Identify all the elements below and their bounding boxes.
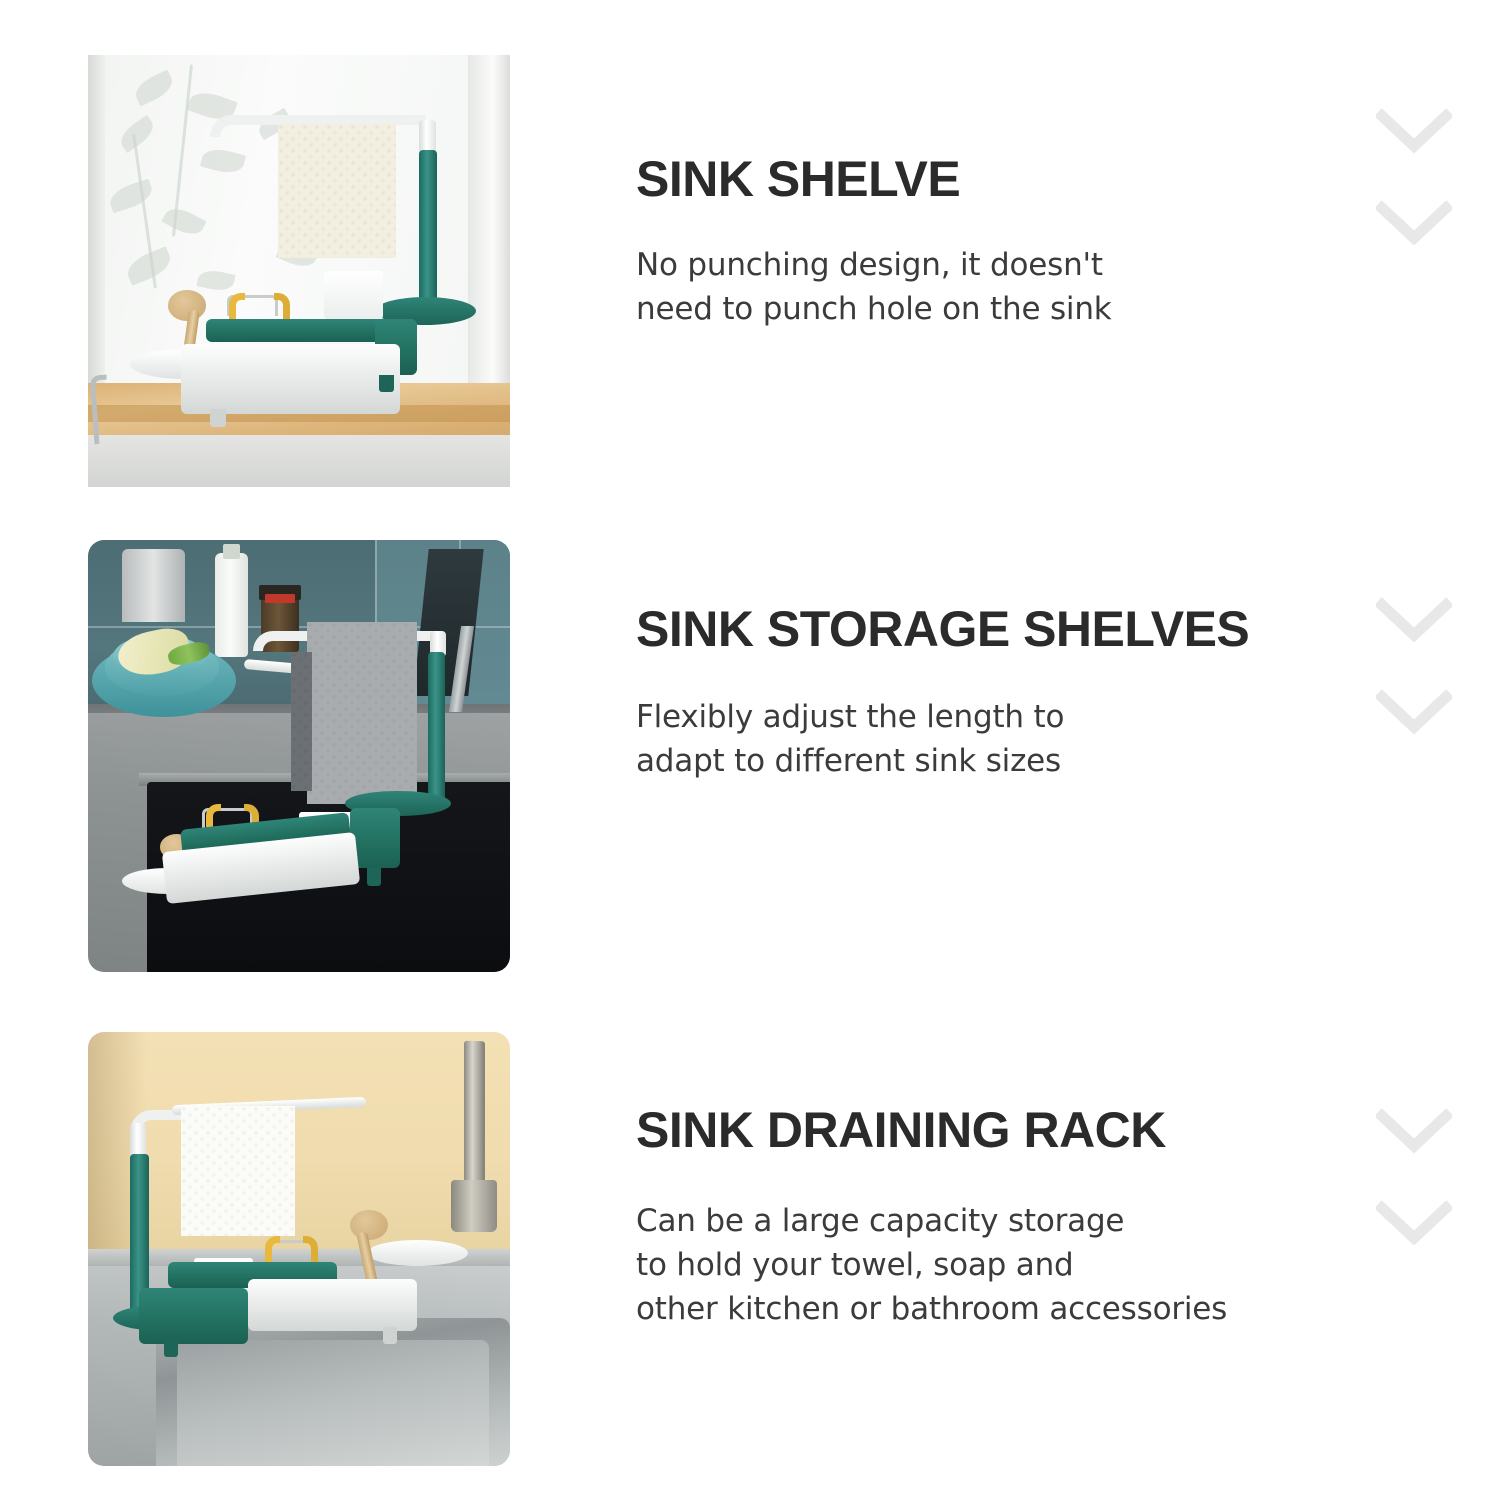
caddy-tray-white (248, 1279, 417, 1331)
sink-caddy-product (88, 1032, 510, 1466)
sink-caddy-product (88, 540, 510, 972)
dish-brush-head (350, 1210, 388, 1240)
chevron-down-icon (1376, 689, 1452, 735)
caddy-post-teal (419, 150, 437, 310)
caddy-foot-right (383, 1327, 397, 1344)
description-line: Can be a large capacity storage (636, 1199, 1460, 1243)
feature-description: Can be a large capacity storage to hold … (636, 1199, 1460, 1331)
scene-windowsill (88, 55, 510, 487)
towel-back-fold (291, 652, 312, 790)
caddy-tray-teal (206, 319, 400, 343)
sink-shelve-photo (88, 55, 510, 487)
chevron-down-icon (1376, 108, 1452, 154)
description-line: Flexibly adjust the length to (636, 695, 1460, 739)
feature-text-column: SINK STORAGE SHELVES Flexibly adjust the… (510, 540, 1500, 972)
feature-row-sink-storage-shelves: SINK STORAGE SHELVES Flexibly adjust the… (0, 540, 1500, 972)
sink-storage-shelves-photo (88, 540, 510, 972)
description-line: need to punch hole on the sink (636, 287, 1460, 331)
description-line: adapt to different sink sizes (636, 739, 1460, 783)
chevron-down-icon (1376, 200, 1452, 246)
caddy-tray-white (181, 344, 400, 413)
hanging-towel (181, 1106, 295, 1236)
infographic-page: SINK SHELVE No punching design, it doesn… (0, 0, 1500, 1500)
description-line: No punching design, it doesn't (636, 243, 1460, 287)
caddy-foot-left (210, 409, 226, 426)
feature-title: SINK DRAINING RACK (636, 1104, 1460, 1156)
chevron-stack-1 (1376, 108, 1452, 292)
sink-draining-rack-photo (88, 1032, 510, 1466)
hanging-towel (307, 622, 417, 803)
feature-text-column: SINK DRAINING RACK Can be a large capaci… (510, 1032, 1500, 1466)
white-sponge (324, 271, 383, 319)
sink-caddy-product (88, 55, 510, 487)
feature-title: SINK STORAGE SHELVES (636, 603, 1460, 655)
chevron-stack-2 (1376, 597, 1452, 781)
description-line: other kitchen or bathroom accessories (636, 1287, 1460, 1331)
hanging-towel (278, 124, 396, 258)
feature-row-sink-draining-rack: SINK DRAINING RACK Can be a large capaci… (0, 1032, 1500, 1466)
caddy-post-upper-white (130, 1123, 146, 1158)
caddy-tray-teal-base (139, 1288, 249, 1344)
caddy-post-teal (428, 652, 445, 808)
caddy-base-oval-right (367, 1240, 468, 1266)
feature-text-column: SINK SHELVE No punching design, it doesn… (510, 55, 1500, 487)
chevron-down-icon (1376, 597, 1452, 643)
scene-kitchen-counter (88, 540, 510, 972)
caddy-foot-right (379, 375, 394, 392)
caddy-foot-right (367, 868, 381, 885)
feature-row-sink-shelve: SINK SHELVE No punching design, it doesn… (0, 55, 1500, 487)
chevron-stack-3 (1376, 1108, 1452, 1292)
scene-steel-sink (88, 1032, 510, 1466)
caddy-foot-left (164, 1340, 178, 1357)
description-line: to hold your towel, soap and (636, 1243, 1460, 1287)
feature-title: SINK SHELVE (636, 153, 1460, 205)
feature-description: No punching design, it doesn't need to p… (636, 243, 1460, 331)
feature-description: Flexibly adjust the length to adapt to d… (636, 695, 1460, 783)
chevron-down-icon (1376, 1108, 1452, 1154)
chevron-down-icon (1376, 1200, 1452, 1246)
